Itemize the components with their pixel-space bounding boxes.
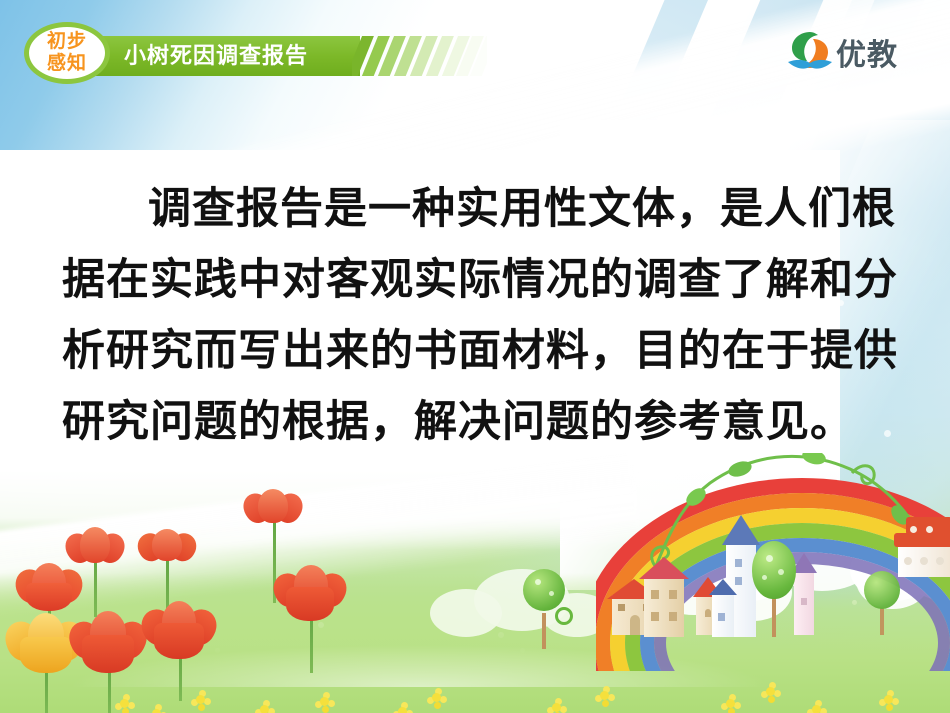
tulip-red-3 [62, 527, 128, 619]
banner-title: 小树死因调查报告 [124, 40, 354, 72]
tree-small-right [862, 571, 902, 635]
bottom-illustration [0, 463, 950, 713]
banner-stripes [352, 36, 487, 76]
brand-logo: 优教 [786, 26, 906, 78]
logo-swirl-icon [786, 26, 834, 74]
tree-large [746, 541, 802, 637]
stage-badge-line-2: 感知 [47, 53, 87, 75]
tulip-red-7 [274, 563, 348, 671]
slide-header: 小树死因调查报告 初步 感知 优教 [0, 0, 950, 96]
body-paragraph: 调查报告是一种实用性文体，是人们根据在实践中对客观实际情况的调查了解和分析研究而… [62, 174, 912, 458]
tree-round [521, 569, 567, 649]
slide-canvas: 调查报告是一种实用性文体，是人们根据在实践中对客观实际情况的调查了解和分析研究而… [0, 0, 950, 713]
stage-badge: 初步 感知 [24, 22, 110, 84]
logo-brand-text: 优教 [836, 30, 898, 74]
tulip-red-5 [142, 599, 218, 695]
stage-badge-line-1: 初步 [47, 31, 87, 53]
